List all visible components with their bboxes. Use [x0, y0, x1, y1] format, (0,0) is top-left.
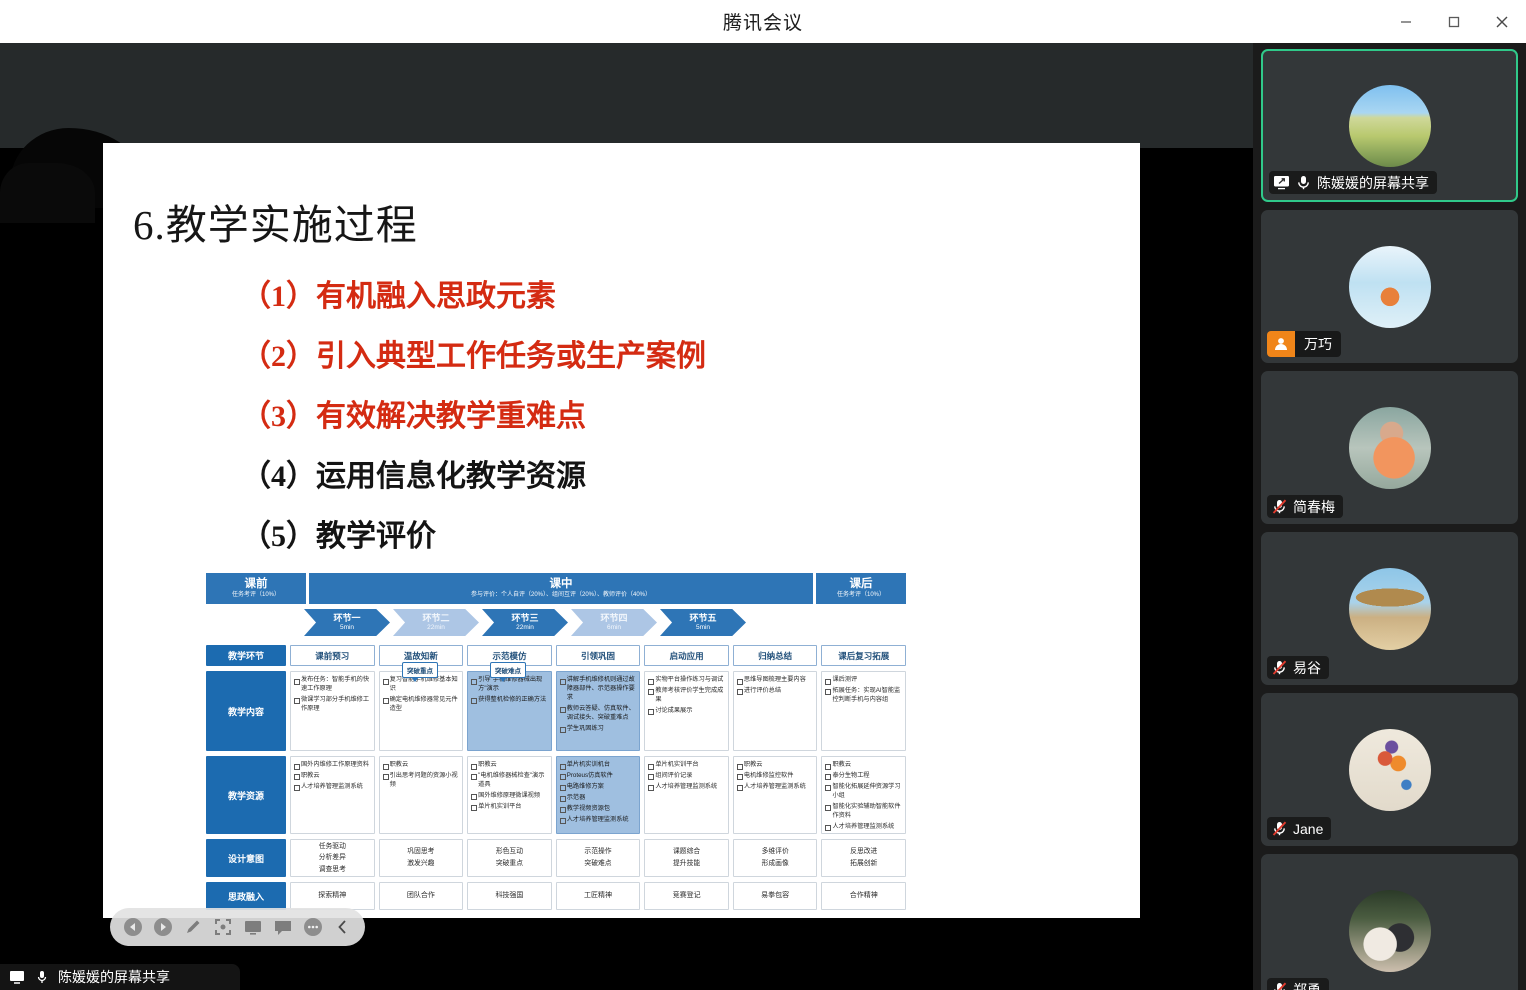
cell-bullet: 职教云 — [294, 772, 371, 781]
name-tag: 陈媛媛的屏幕共享 — [1269, 171, 1437, 194]
shared-screen-stage[interactable]: 6.教学实施过程 （1）有机融入思政元素 （2）引入典型工作任务或生产案例 （3… — [0, 43, 1253, 990]
screen-share-label: 陈媛媛的屏幕共享 — [58, 967, 170, 987]
cell-line: 巩固思考 — [407, 846, 434, 858]
intent-cell-6: 多维评价形成画像 — [733, 839, 818, 877]
row-label-content: 教学内容 — [206, 671, 286, 751]
step-arrow-5: 环节五5min — [660, 609, 746, 636]
step-arrow-row: 环节一5min环节二22min环节三22min环节四6min环节五5min — [304, 609, 746, 636]
phase-during-class: 课中 参与评价：个人自评（20%）、组间互评（20%）、教师评价（40%） — [309, 573, 813, 604]
cell-line: 激发兴趣 — [407, 858, 434, 870]
more-options-icon[interactable] — [300, 912, 325, 942]
callout-difficult-point: 突破难点 — [490, 662, 526, 678]
slide-bullet-4: （4）运用信息化教学资源 — [241, 451, 586, 495]
stage-header-5: 启动应用 — [644, 645, 729, 666]
cell-bullet: 电路维修方案 — [560, 783, 637, 792]
step-duration: 22min — [427, 624, 445, 631]
step-arrow-2: 环节二22min — [393, 609, 479, 636]
cell-bullet: 微课学习部分手机维修工作原理 — [294, 696, 371, 714]
ideology-cell-6: 易拳包容 — [733, 882, 818, 910]
phase-title: 课中 — [550, 578, 573, 591]
chevron-left-icon[interactable] — [330, 912, 355, 942]
slide-title: 6.教学实施过程 — [133, 191, 418, 251]
cell-bullet: 智能化实验辅助智能软件作资料 — [825, 803, 902, 821]
participant-name: 简春梅 — [1293, 500, 1335, 514]
content-cell-5: 实物平台操作练习与调试教师考核评价学生完成成果讨论成果展示 — [644, 671, 729, 751]
cell-bullet: 讨论成果展示 — [648, 707, 725, 716]
cell-line: 调查思考 — [319, 864, 346, 876]
resource-cell-3: 职教云"电机维修器械检查"演示道具国外维修原理微课视频单片机实训平台 — [467, 756, 552, 834]
grid-intent-row: 设计意图 任务驱动分析差异调查思考巩固思考激发兴趣形色互动突破重点示范操作突破难… — [206, 839, 906, 877]
participant-tile-1[interactable]: 陈媛媛的屏幕共享 — [1261, 49, 1518, 202]
row-label-resource: 教学资源 — [206, 756, 286, 834]
content-cell-2: 复习智能手机维修基本知识确定电机维修器常见元件造型 — [379, 671, 464, 751]
cell-bullet: 职教云 — [737, 761, 814, 770]
name-tag: 易谷 — [1267, 656, 1329, 679]
next-slide-button[interactable] — [150, 912, 175, 942]
cell-bullet: 国外维修原理微课视频 — [471, 792, 548, 801]
diagram-grid: 教学环节 课前预习温故知新示范模仿引领巩固启动应用归纳总结课后复习拓展 教学内容… — [206, 645, 906, 915]
step-duration: 5min — [340, 624, 354, 631]
stage-header-4: 引领巩固 — [556, 645, 641, 666]
phase-after-class: 课后 任务考评（10%） — [816, 573, 906, 604]
teaching-process-diagram: 课前 任务考评（10%） 课中 参与评价：个人自评（20%）、组间互评（20%）… — [206, 573, 906, 913]
step-title: 环节一 — [333, 614, 360, 624]
participant-name: 易谷 — [1293, 661, 1321, 675]
ideology-cell-2: 团队合作 — [379, 882, 464, 910]
cell-bullet: 引导"手机维修器械出现方"演示 — [471, 676, 548, 694]
video-backdrop — [0, 43, 1253, 148]
row-label-ideology: 思政融入 — [206, 882, 286, 910]
cell-bullet: 人才培养管理监测系统 — [648, 783, 725, 792]
cell-bullet: 人才培养管理监测系统 — [825, 823, 902, 832]
cell-line: 提升技能 — [673, 858, 700, 870]
slide-bullet-1: （1）有机融入思政元素 — [241, 271, 556, 315]
step-arrow-4: 环节四6min — [571, 609, 657, 636]
ideology-cell-4: 工匠精神 — [556, 882, 641, 910]
cell-line: 易拳包容 — [761, 890, 789, 902]
slide-bullet-2: （2）引入典型工作任务或生产案例 — [241, 331, 706, 375]
cell-bullet: 实物平台操作练习与调试 — [648, 676, 725, 685]
microphone-muted-icon[interactable] — [1271, 820, 1288, 837]
avatar — [1349, 729, 1431, 811]
cell-bullet: 讲解手机维修机则通过故障器部件、示范器操作要求 — [560, 676, 637, 703]
avatar — [1349, 85, 1431, 167]
step-arrow-3: 环节三22min — [482, 609, 568, 636]
name-tag: Jane — [1267, 817, 1331, 840]
participant-name: Jane — [1293, 822, 1323, 836]
cell-bullet: 教师云答疑、仿真软件、调试接头、突破重难点 — [560, 705, 637, 723]
previous-slide-button[interactable] — [120, 912, 145, 942]
avatar — [1349, 890, 1431, 972]
microphone-muted-icon[interactable] — [1271, 659, 1288, 676]
stage-header-7: 课后复习拓展 — [821, 645, 906, 666]
phase-subtitle: 参与评价：个人自评（20%）、组间互评（20%）、教师评价（40%） — [471, 592, 651, 599]
title-bar: 腾讯会议 — [0, 0, 1526, 43]
cell-bullet: 泰分生物工程 — [825, 772, 902, 781]
cell-line: 拓展创新 — [850, 858, 877, 870]
video-silhouette-secondary — [0, 163, 95, 223]
cell-line: 形成画像 — [762, 858, 789, 870]
cell-bullet: 复习智能手机维修基本知识 — [383, 676, 460, 694]
cell-line: 分析差异 — [319, 852, 346, 864]
stage-header-1: 课前预习 — [290, 645, 375, 666]
content-cell-1: 发布任务：智能手机的快速工作原理微课学习部分手机维修工作原理 — [290, 671, 375, 751]
participant-name: 郑勇 — [1293, 983, 1321, 990]
intent-cell-1: 任务驱动分析差异调查思考 — [290, 839, 375, 877]
step-duration: 5min — [696, 624, 710, 631]
cell-line: 突破重点 — [496, 858, 523, 870]
participant-tile-6[interactable]: 郑勇 — [1261, 854, 1518, 990]
step-duration: 22min — [516, 624, 534, 631]
step-title: 环节三 — [511, 614, 538, 624]
cell-line: 形色互动 — [496, 846, 523, 858]
stage-header-6: 归纳总结 — [733, 645, 818, 666]
cell-bullet: 学生巩固练习 — [560, 725, 637, 734]
step-title: 环节五 — [689, 614, 716, 624]
intent-cell-3: 形色互动突破重点 — [467, 839, 552, 877]
cell-bullet: 教师考核评价学生完成成果 — [648, 687, 725, 705]
phase-subtitle: 任务考评（10%） — [837, 592, 885, 599]
resource-cell-4: 单片机实训机台Proteus仿真软件电路维修方案示范器教学视频资源包人才培养管理… — [556, 756, 641, 834]
presentation-toolbar[interactable] — [110, 908, 365, 946]
content-cell-7: 课后测评拓展任务：实现AI智能监控判断手机与内容组 — [821, 671, 906, 751]
ideology-cell-7: 合作精神 — [821, 882, 906, 910]
phase-subtitle: 任务考评（10%） — [232, 592, 280, 599]
cell-line: 课题综合 — [673, 846, 700, 858]
microphone-icon — [33, 969, 50, 986]
grid-header-row: 教学环节 课前预习温故知新示范模仿引领巩固启动应用归纳总结课后复习拓展 — [206, 645, 906, 666]
participant-tile-4[interactable]: 易谷 — [1261, 532, 1518, 685]
phase-title: 课前 — [245, 578, 268, 591]
grid-content-row: 教学内容 发布任务：智能手机的快速工作原理微课学习部分手机维修工作原理复习智能手… — [206, 671, 906, 751]
minimize-button[interactable] — [1382, 0, 1430, 43]
microphone-icon[interactable] — [1295, 174, 1312, 191]
avatar — [1349, 246, 1431, 328]
window-controls — [1382, 0, 1526, 43]
cell-line: 多维评价 — [762, 846, 789, 858]
participant-name: 陈媛媛的屏幕共享 — [1317, 176, 1429, 190]
cell-bullet: 单片机实训平台 — [648, 761, 725, 770]
resource-cell-7: 职教云泰分生物工程智能化拓展延伸资源学习小组智能化实验辅助智能软件作资料人才培养… — [821, 756, 906, 834]
step-duration: 6min — [607, 624, 621, 631]
cell-bullet: 示范器 — [560, 794, 637, 803]
row-label-intent: 设计意图 — [206, 839, 286, 877]
screen-share-icon — [8, 969, 25, 986]
screen-share-icon — [1273, 174, 1290, 191]
name-tag: 郑勇 — [1267, 978, 1329, 990]
cell-line: 竞赛登记 — [673, 890, 701, 902]
participant-panel[interactable]: 陈媛媛的屏幕共享万巧简春梅易谷Jane郑勇 — [1253, 43, 1526, 990]
step-title: 环节四 — [600, 614, 627, 624]
cell-bullet: 课后测评 — [825, 676, 902, 685]
cell-bullet: 职教云 — [383, 761, 460, 770]
cell-bullet: 电机维修监控软件 — [737, 772, 814, 781]
microphone-muted-icon[interactable] — [1271, 498, 1288, 515]
intent-cell-2: 巩固思考激发兴趣 — [379, 839, 464, 877]
cell-bullet: 发布任务：智能手机的快速工作原理 — [294, 676, 371, 694]
cell-line: 突破难点 — [584, 858, 611, 870]
cell-bullet: "电机维修器械检查"演示道具 — [471, 772, 548, 790]
intent-cell-7: 反思改进拓展创新 — [821, 839, 906, 877]
cell-bullet: 确定电机维修器常见元件造型 — [383, 696, 460, 714]
maximize-button[interactable] — [1430, 0, 1478, 43]
intent-cell-5: 课题综合提升技能 — [644, 839, 729, 877]
phase-before-class: 课前 任务考评（10%） — [206, 573, 306, 604]
cell-bullet: 职教云 — [825, 761, 902, 770]
cell-line: 工匠精神 — [584, 890, 612, 902]
cell-bullet: 人才培养管理监测系统 — [560, 816, 637, 825]
cell-bullet: 单片机实训机台 — [560, 761, 637, 770]
cell-bullet: 组间评价记录 — [648, 772, 725, 781]
subtitle-icon[interactable] — [270, 912, 295, 942]
content-cell-4: 讲解手机维修机则通过故障器部件、示范器操作要求教师云答疑、仿真软件、调试接头、突… — [556, 671, 641, 751]
phase-header-row: 课前 任务考评（10%） 课中 参与评价：个人自评（20%）、组间互评（20%）… — [206, 573, 906, 604]
screen-share-indicator-strip: 陈媛媛的屏幕共享 — [0, 964, 240, 990]
display-icon[interactable] — [240, 912, 265, 942]
cell-bullet: 进行评价总结 — [737, 687, 814, 696]
pen-icon[interactable] — [180, 912, 205, 942]
cell-bullet: 职教云 — [471, 761, 548, 770]
resource-cell-5: 单片机实训平台组间评价记录人才培养管理监测系统 — [644, 756, 729, 834]
cell-bullet: 思维导图梳理主要内容 — [737, 676, 814, 685]
slide-bullet-3: （3）有效解决教学重难点 — [241, 391, 586, 435]
cell-bullet: 引出思考问题的资源小视频 — [383, 772, 460, 790]
cell-bullet: 人才培养管理监测系统 — [737, 783, 814, 792]
resource-cell-6: 职教云电机维修监控软件人才培养管理监测系统 — [733, 756, 818, 834]
participant-tile-3[interactable]: 简春梅 — [1261, 371, 1518, 524]
resource-cell-2: 职教云引出思考问题的资源小视频 — [379, 756, 464, 834]
resource-cell-1: 国外内维修工作原理资料职教云人才培养管理监测系统 — [290, 756, 375, 834]
grid-resource-row: 教学资源 国外内维修工作原理资料职教云人才培养管理监测系统职教云引出思考问题的资… — [206, 756, 906, 834]
close-button[interactable] — [1478, 0, 1526, 43]
ideology-cell-1: 探索精神 — [290, 882, 375, 910]
participant-tile-5[interactable]: Jane — [1261, 693, 1518, 846]
cell-bullet: 教学视频资源包 — [560, 805, 637, 814]
callout-key-point: 突破重点 — [402, 662, 438, 678]
host-badge: 万巧 — [1267, 331, 1341, 357]
microphone-muted-icon[interactable] — [1271, 981, 1288, 990]
slide-bullet-5: （5）教学评价 — [241, 511, 436, 555]
cell-line: 探索精神 — [318, 890, 346, 902]
cell-bullet: Proteus仿真软件 — [560, 772, 637, 781]
cell-line: 任务驱动 — [319, 841, 346, 853]
ideology-cell-5: 竞赛登记 — [644, 882, 729, 910]
step-title: 环节二 — [422, 614, 449, 624]
name-tag: 简春梅 — [1267, 495, 1343, 518]
row-label-stage: 教学环节 — [206, 645, 286, 666]
cell-bullet: 单片机实训平台 — [471, 803, 548, 812]
cell-bullet: 获得整机检修的正确方法 — [471, 696, 548, 705]
cell-bullet: 智能化拓展延伸资源学习小组 — [825, 783, 902, 801]
cell-bullet: 拓展任务：实现AI智能监控判断手机与内容组 — [825, 687, 902, 705]
app-title: 腾讯会议 — [723, 8, 803, 35]
cell-bullet: 人才培养管理监测系统 — [294, 783, 371, 792]
content-cell-6: 思维导图梳理主要内容进行评价总结 — [733, 671, 818, 751]
host-icon — [1267, 331, 1295, 357]
cell-line: 科技强国 — [495, 890, 523, 902]
content-cell-3: 引导"手机维修器械出现方"演示获得整机检修的正确方法 — [467, 671, 552, 751]
presentation-slide: 6.教学实施过程 （1）有机融入思政元素 （2）引入典型工作任务或生产案例 （3… — [103, 143, 1140, 918]
ideology-cell-3: 科技强国 — [467, 882, 552, 910]
cell-line: 示范操作 — [584, 846, 611, 858]
step-arrow-1: 环节一5min — [304, 609, 390, 636]
avatar — [1349, 407, 1431, 489]
zoom-region-icon[interactable] — [210, 912, 235, 942]
participant-tile-2[interactable]: 万巧 — [1261, 210, 1518, 363]
cell-bullet: 国外内维修工作原理资料 — [294, 761, 371, 770]
cell-line: 合作精神 — [850, 890, 878, 902]
cell-line: 团队合作 — [407, 890, 435, 902]
cell-line: 反思改进 — [850, 846, 877, 858]
phase-title: 课后 — [850, 578, 873, 591]
participant-name: 万巧 — [1295, 331, 1341, 357]
avatar — [1349, 568, 1431, 650]
grid-ideology-row: 思政融入 探索精神团队合作科技强国工匠精神竞赛登记易拳包容合作精神 — [206, 882, 906, 910]
intent-cell-4: 示范操作突破难点 — [556, 839, 641, 877]
